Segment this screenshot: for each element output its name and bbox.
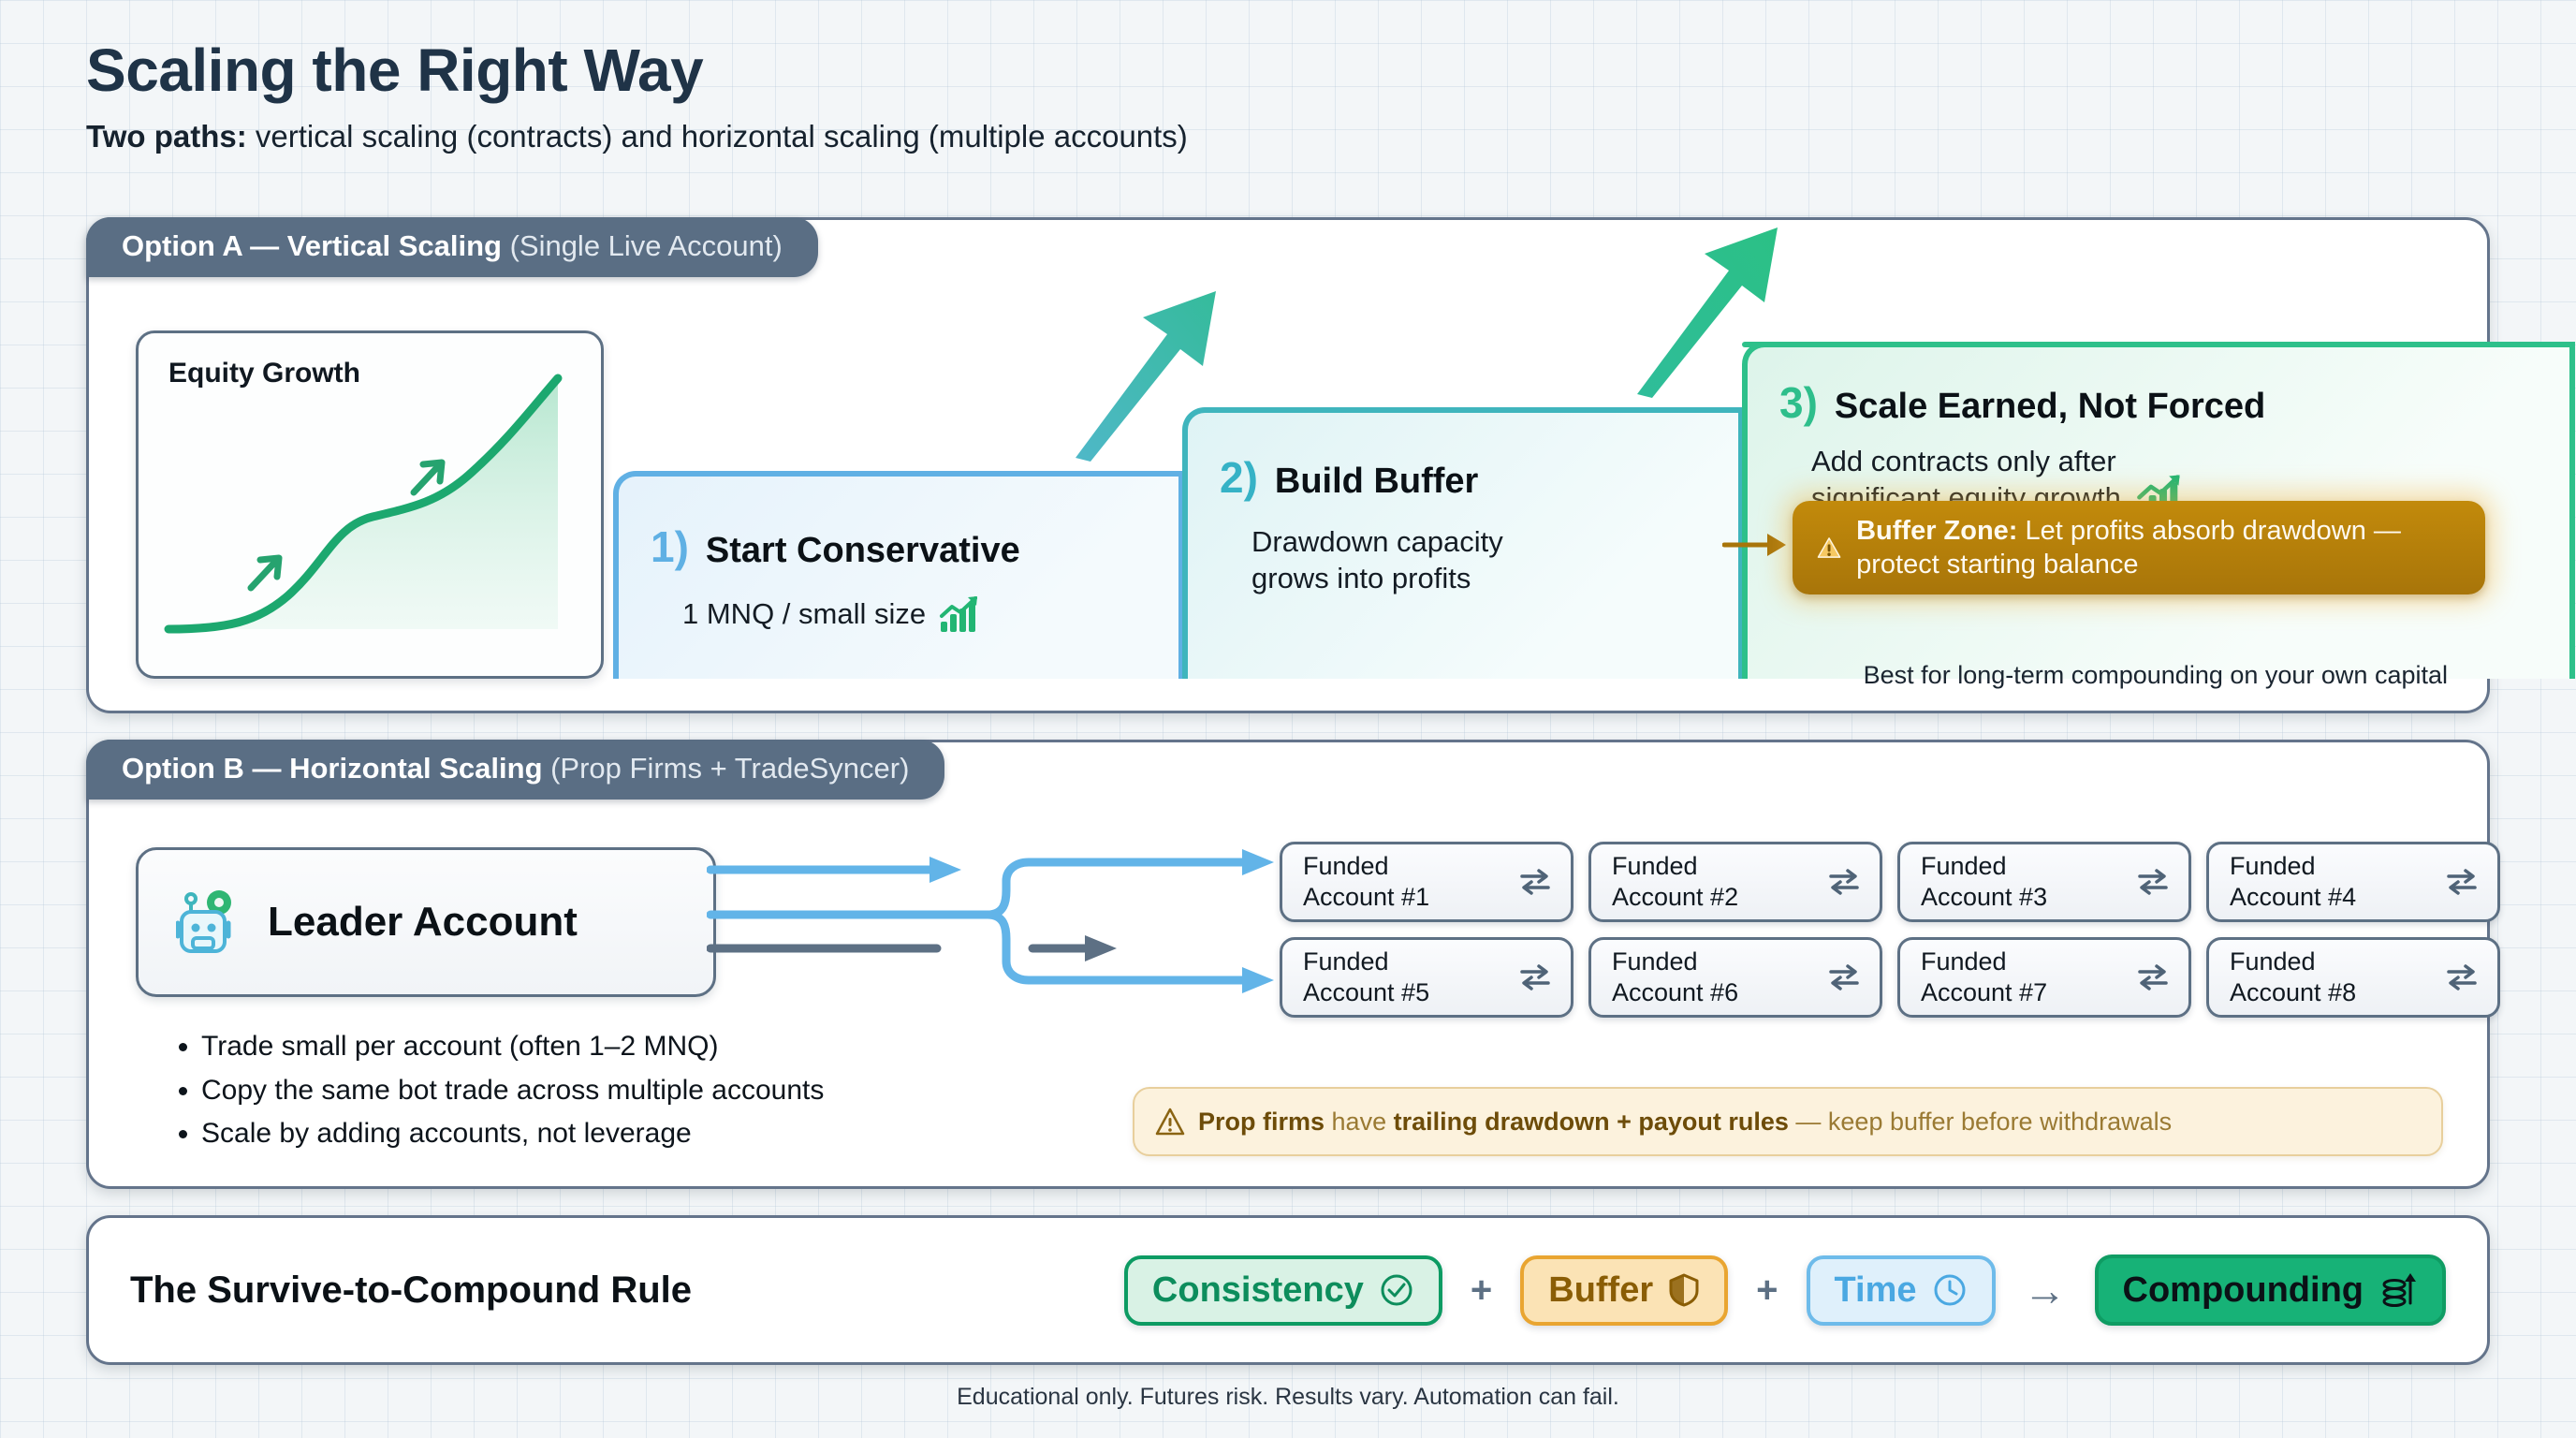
robot-gear-icon	[176, 888, 243, 957]
funded-account-8-label: Funded Account #8	[2230, 946, 2356, 1008]
sync-arrows-icon	[1518, 867, 1552, 897]
funded-account-7[interactable]: Funded Account #7	[1897, 937, 2191, 1018]
buffer-connector-arrow	[1722, 529, 1788, 561]
chart-annotation-arrow-lower	[251, 558, 279, 588]
step-2-number: 2)	[1220, 456, 1258, 499]
option-b-bullet-list: Trade small per account (often 1–2 MNQ) …	[160, 1025, 824, 1156]
funded-account-8[interactable]: Funded Account #8	[2206, 937, 2500, 1018]
funded-account-3-label: Funded Account #3	[1921, 851, 2047, 913]
pill-time-label: Time	[1835, 1270, 1917, 1311]
equity-card-title: Equity Growth	[168, 358, 360, 389]
step-box-build-buffer: 2) Build Buffer Drawdown capacity grows …	[1182, 407, 1744, 679]
prop-warning-text: Prop firms have trailing drawdown + payo…	[1198, 1108, 2172, 1137]
sync-arrows-icon	[1827, 867, 1861, 897]
footer-disclaimer: Educational only. Futures risk. Results …	[0, 1384, 2576, 1411]
option-b-tab-bold: Option B — Horizontal Scaling	[122, 752, 543, 785]
plus-sign-1: +	[1471, 1269, 1492, 1312]
sync-arrows-icon	[2136, 867, 2170, 897]
check-circle-icon	[1379, 1272, 1414, 1308]
list-item: Copy the same bot trade across multiple …	[201, 1069, 824, 1113]
funded-accounts-grid: Funded Account #1 Funded Account #2 Fund…	[1280, 842, 2500, 1018]
growth-chart-icon	[939, 595, 980, 633]
leader-account-card[interactable]: Leader Account	[136, 847, 716, 997]
page-header: Scaling the Right Way Two paths: vertica…	[0, 0, 2576, 154]
funded-account-4[interactable]: Funded Account #4	[2206, 842, 2500, 922]
funded-account-7-label: Funded Account #7	[1921, 946, 2047, 1008]
step-1-subtitle: 1 MNQ / small size	[682, 596, 926, 633]
funded-account-2-label: Funded Account #2	[1612, 851, 1738, 913]
list-item: Trade small per account (often 1–2 MNQ)	[201, 1025, 824, 1069]
step-box-start-conservative: 1) Start Conservative 1 MNQ / small size	[613, 471, 1184, 679]
page-subtitle-bold: Two paths:	[86, 119, 247, 154]
sync-arrows-icon	[2136, 962, 2170, 992]
step-1-head: 1) Start Conservative	[619, 477, 1178, 571]
option-b-tab: Option B — Horizontal Scaling (Prop Firm…	[86, 740, 944, 800]
option-b-panel: Option B — Horizontal Scaling (Prop Firm…	[86, 740, 2490, 1189]
chart-annotation-arrow-upper	[414, 462, 442, 492]
funded-account-6-label: Funded Account #6	[1612, 946, 1738, 1008]
step-2-subtitle: Drawdown capacity grows into profits	[1188, 502, 1738, 597]
buffer-zone-callout: Buffer Zone: Let profits absorb drawdown…	[1793, 501, 2485, 594]
step-3-number: 3)	[1779, 381, 1818, 424]
funded-account-5-label: Funded Account #5	[1303, 946, 1429, 1008]
buffer-callout-text: Buffer Zone: Let profits absorb drawdown…	[1856, 514, 2461, 582]
step-3-title: Scale Earned, Not Forced	[1835, 387, 2265, 427]
step-2-title: Build Buffer	[1275, 462, 1478, 502]
sync-arrows-icon	[2445, 867, 2479, 897]
survive-to-compound-rule-bar: The Survive-to-Compound Rule Consistency…	[86, 1215, 2490, 1365]
pill-time[interactable]: Time	[1807, 1255, 1996, 1326]
step-3-head: 3) Scale Earned, Not Forced	[1748, 347, 2569, 427]
page-subtitle: Two paths: vertical scaling (contracts) …	[86, 119, 2576, 154]
rule-bar-title: The Survive-to-Compound Rule	[130, 1269, 1096, 1312]
step-2-head: 2) Build Buffer	[1188, 413, 1738, 502]
option-a-tab-bold: Option A — Vertical Scaling	[122, 229, 502, 262]
funded-account-4-label: Funded Account #4	[2230, 851, 2356, 913]
prop-warning-bold-2: trailing drawdown + payout rules	[1394, 1108, 1789, 1136]
pill-compounding-label: Compounding	[2123, 1270, 2364, 1311]
coins-up-icon	[2378, 1269, 2418, 1311]
option-b-tab-dim: (Prop Firms + TradeSyncer)	[543, 752, 910, 785]
step-1-title: Start Conservative	[706, 531, 1020, 571]
prop-warning-rest: — keep buffer before withdrawals	[1789, 1108, 2172, 1136]
funded-account-1-label: Funded Account #1	[1303, 851, 1429, 913]
result-arrow: →	[2024, 1265, 2067, 1315]
pill-buffer-label: Buffer	[1548, 1270, 1653, 1311]
funded-account-3[interactable]: Funded Account #3	[1897, 842, 2191, 922]
warning-triangle-icon	[1155, 1108, 1185, 1136]
page-title: Scaling the Right Way	[86, 39, 2576, 102]
sync-arrows-icon	[1518, 962, 1552, 992]
plus-sign-2: +	[1756, 1269, 1778, 1312]
page-subtitle-rest: vertical scaling (contracts) and horizon…	[247, 119, 1188, 154]
funded-account-6[interactable]: Funded Account #6	[1588, 937, 1882, 1018]
warning-triangle-icon	[1817, 532, 1841, 564]
prop-warning-bold-1: Prop firms	[1198, 1108, 1325, 1136]
step-1-sub-wrap: 1 MNQ / small size	[619, 571, 1178, 633]
option-a-tab: Option A — Vertical Scaling (Single Live…	[86, 217, 818, 277]
pill-consistency-label: Consistency	[1152, 1270, 1364, 1311]
shield-icon	[1668, 1272, 1700, 1308]
option-a-tab-dim: (Single Live Account)	[502, 229, 783, 262]
leader-account-label: Leader Account	[268, 899, 578, 946]
funded-account-2[interactable]: Funded Account #2	[1588, 842, 1882, 922]
option-a-panel: Option A — Vertical Scaling (Single Live…	[86, 217, 2490, 713]
pill-buffer[interactable]: Buffer	[1520, 1255, 1728, 1326]
buffer-callout-label: Buffer Zone:	[1856, 516, 2017, 546]
list-item: Scale by adding accounts, not leverage	[201, 1112, 824, 1156]
prop-firms-warning: Prop firms have trailing drawdown + payo…	[1133, 1087, 2443, 1156]
sync-arrows-icon	[2445, 962, 2479, 992]
prop-warning-mid-1: have	[1325, 1108, 1394, 1136]
sync-arrows-icon	[1827, 962, 1861, 992]
funded-account-1[interactable]: Funded Account #1	[1280, 842, 1573, 922]
pill-compounding[interactable]: Compounding	[2095, 1255, 2446, 1326]
step-1-number: 1)	[651, 525, 689, 568]
option-a-note: Best for long-term compounding on your o…	[89, 661, 2448, 690]
funded-account-5[interactable]: Funded Account #5	[1280, 937, 1573, 1018]
equity-growth-card: Equity Growth	[136, 330, 604, 679]
clock-icon	[1932, 1272, 1968, 1308]
pill-consistency[interactable]: Consistency	[1124, 1255, 1442, 1326]
